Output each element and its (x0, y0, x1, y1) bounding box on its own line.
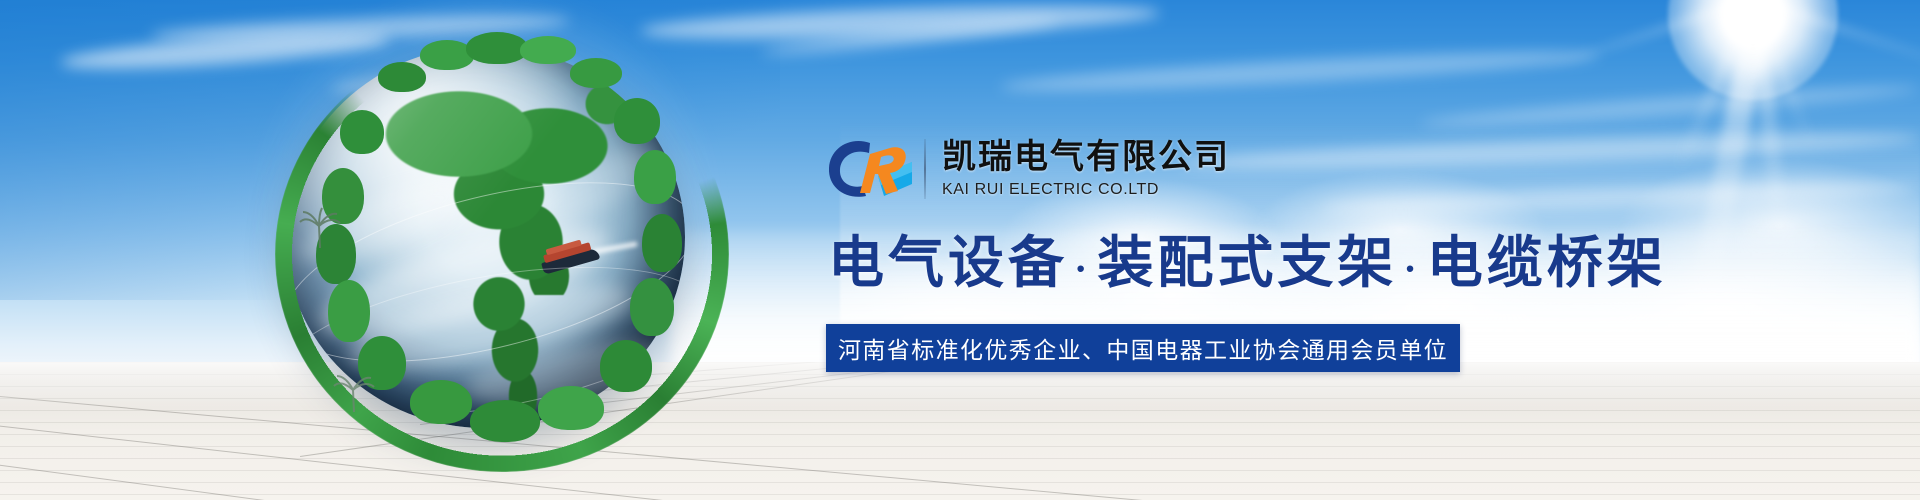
cr-monogram-svg (826, 136, 918, 202)
tree-cluster (470, 400, 540, 442)
tree-cluster (410, 380, 472, 424)
tree-cluster (466, 32, 528, 64)
cr-logo-icon[interactable] (826, 136, 918, 202)
tree-cluster (630, 278, 674, 336)
company-name-en: KAI RUI ELECTRIC CO.LTD (942, 181, 1230, 199)
company-hero-banner: 凯瑞电气有限公司 KAI RUI ELECTRIC CO.LTD 电气设备·装配… (0, 0, 1920, 500)
headline-segment-3: 电缆桥架 (1427, 233, 1667, 295)
palm-tree-icon (332, 370, 376, 414)
brand-divider (924, 139, 926, 199)
tree-cluster (614, 98, 660, 144)
tree-cluster (642, 214, 682, 272)
palm-tree-icon (298, 206, 342, 250)
tree-cluster (600, 340, 652, 392)
green-earth-globe (270, 18, 700, 458)
tree-cluster (340, 110, 384, 154)
headline-segment-1: 电气设备 (828, 233, 1068, 295)
credentials-ribbon: 河南省标准化优秀企业、中国电器工业协会通用会员单位 (826, 324, 1460, 372)
tree-cluster (570, 58, 622, 88)
brand-text: 凯瑞电气有限公司 KAI RUI ELECTRIC CO.LTD (942, 139, 1230, 199)
tree-cluster (538, 386, 604, 430)
hero-content: 凯瑞电气有限公司 KAI RUI ELECTRIC CO.LTD 电气设备·装配… (826, 0, 1826, 500)
headline-segment-2: 装配式支架 (1097, 233, 1397, 295)
tree-cluster (378, 62, 426, 92)
credentials-ribbon-text: 河南省标准化优秀企业、中国电器工业协会通用会员单位 (838, 331, 1448, 365)
headline-separator: · (1397, 246, 1426, 291)
tree-cluster (634, 150, 676, 204)
company-name-cn: 凯瑞电气有限公司 (942, 139, 1230, 176)
tree-cluster (520, 36, 576, 64)
brand-lockup[interactable]: 凯瑞电气有限公司 KAI RUI ELECTRIC CO.LTD (826, 136, 1230, 202)
hero-headline: 电气设备·装配式支架·电缆桥架 (828, 233, 1667, 296)
headline-separator: · (1068, 246, 1097, 291)
tree-cluster (328, 280, 370, 342)
